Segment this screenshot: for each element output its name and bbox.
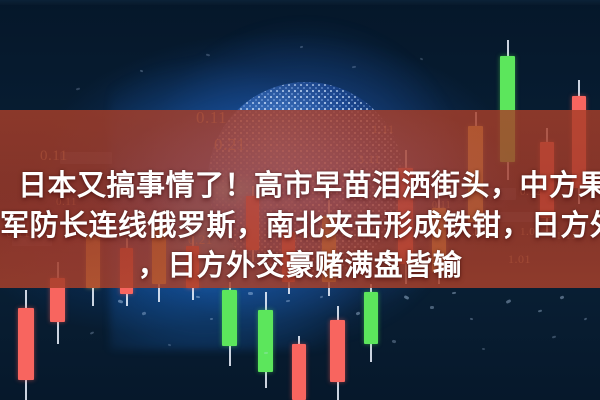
particle: [430, 306, 434, 309]
candle-body: [364, 292, 378, 344]
candle-body: [258, 310, 273, 372]
headline-line-2: 军防长连线俄罗斯，南北夹击形成铁钳，日方外交豪: [0, 206, 600, 246]
candle-body: [292, 344, 306, 400]
news-thumbnail-image: 0.110.110.211.113.110.111.010.211.011.01…: [0, 0, 600, 400]
candlestick: [18, 290, 34, 400]
particle: [248, 292, 253, 295]
headline-line-1: 日本又搞事情了！高市早苗泪洒街头，中方果断收: [0, 166, 600, 206]
candlestick: [258, 292, 273, 388]
candle-body: [330, 320, 345, 382]
headline-block: 日本又搞事情了！高市早苗泪洒街头，中方果断收 军防长连线俄罗斯，南北夹击形成铁钳…: [0, 110, 600, 288]
candle-body: [222, 290, 237, 346]
candlestick: [364, 284, 378, 362]
particle: [392, 340, 397, 344]
candlestick: [222, 282, 237, 366]
particle: [482, 348, 485, 350]
particle: [196, 296, 200, 299]
candlestick: [292, 336, 306, 400]
particle: [470, 318, 473, 321]
headline-line-3: ，日方外交豪赌满盘皆输: [0, 246, 600, 286]
candlestick: [330, 306, 345, 400]
candle-body: [18, 308, 34, 380]
